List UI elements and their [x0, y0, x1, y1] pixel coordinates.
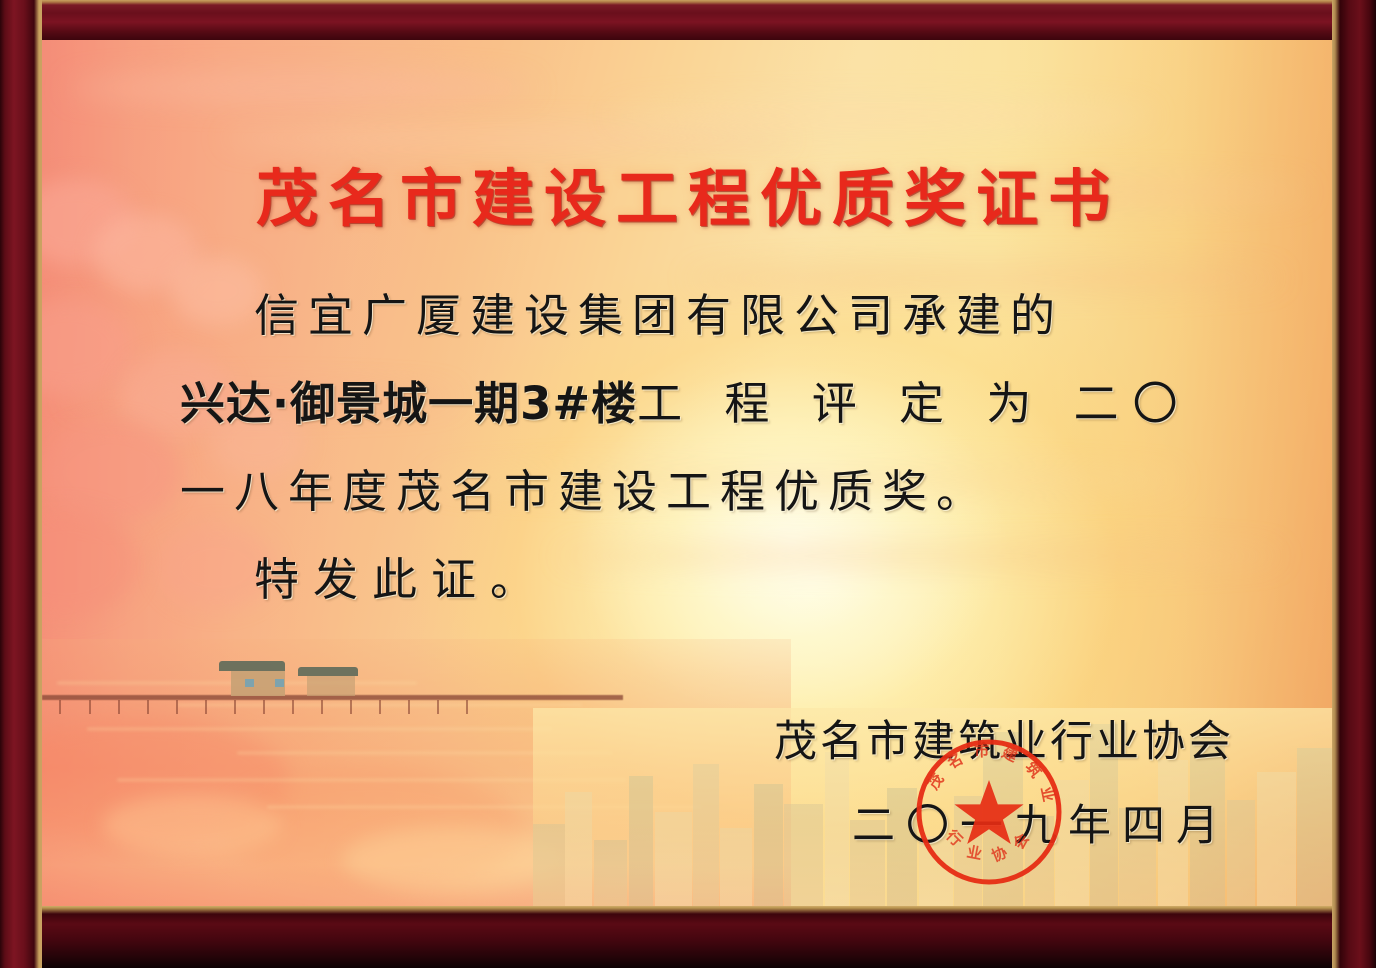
- frame-edge-top: [0, 0, 1376, 40]
- body-line-2-rest: 工 程 评 定 为 二〇: [637, 377, 1192, 430]
- body-line-1-text: 信宜广厦建设集团有限公司承建的: [254, 289, 1064, 342]
- signature-block: 茂名市建筑业行业协会 二〇一九年四月: [774, 700, 1234, 868]
- issue-date: 二〇一九年四月: [774, 784, 1234, 868]
- certificate-body: 信宜广厦建设集团有限公司承建的 兴达·御景城一期3#楼工 程 评 定 为 二〇 …: [180, 272, 1190, 624]
- body-line-3: 一八年度茂名市建设工程优质奖。: [180, 448, 1190, 536]
- body-line-3-text: 一八年度茂名市建设工程优质奖。: [180, 465, 990, 518]
- body-line-1: 信宜广厦建设集团有限公司承建的: [180, 272, 1190, 360]
- frame-edge-bottom: [0, 906, 1376, 968]
- frame-edge-left: [0, 0, 42, 968]
- certificate-content: 茂名市建设工程优质奖证书 信宜广厦建设集团有限公司承建的 兴达·御景城一期3#楼…: [42, 40, 1334, 908]
- issuing-organization: 茂名市建筑业行业协会: [774, 700, 1234, 784]
- project-name: 兴达·御景城一期3#楼: [180, 377, 637, 430]
- certificate-title: 茂名市建设工程优质奖证书: [42, 148, 1334, 238]
- body-line-4: 特发此证。: [180, 536, 1190, 624]
- body-line-2: 兴达·御景城一期3#楼工 程 评 定 为 二〇: [180, 360, 1190, 448]
- certificate-mat: 茂名市建设工程优质奖证书 信宜广厦建设集团有限公司承建的 兴达·御景城一期3#楼…: [38, 36, 1338, 912]
- body-line-4-text: 特发此证。: [254, 553, 549, 606]
- certificate-frame: 茂名市建设工程优质奖证书 信宜广厦建设集团有限公司承建的 兴达·御景城一期3#楼…: [0, 0, 1376, 968]
- certificate-paper: 茂名市建设工程优质奖证书 信宜广厦建设集团有限公司承建的 兴达·御景城一期3#楼…: [42, 40, 1334, 908]
- frame-edge-right: [1332, 0, 1376, 968]
